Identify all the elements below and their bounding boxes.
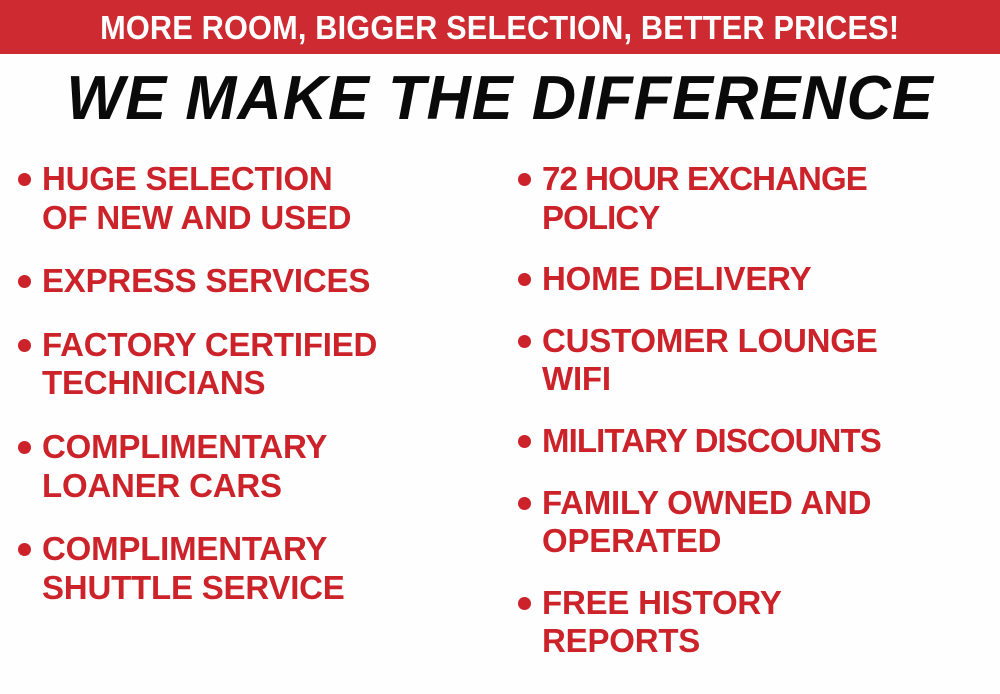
list-item: 72 HOUR EXCHANGE POLICY — [518, 160, 1000, 237]
feature-column-right: 72 HOUR EXCHANGE POLICY HOME DELIVERY CU… — [500, 152, 1000, 684]
bullet-icon — [518, 335, 531, 348]
list-item: COMPLIMENTARY SHUTTLE SERVICE — [18, 530, 500, 607]
feature-label: FREE HISTORY REPORTS — [542, 584, 782, 661]
list-item: HOME DELIVERY — [518, 260, 1000, 299]
bullet-icon — [18, 275, 31, 288]
bullet-icon — [518, 435, 531, 448]
header-tagline: MORE ROOM, BIGGER SELECTION, BETTER PRIC… — [100, 11, 899, 44]
feature-columns: HUGE SELECTION OF NEW AND USED EXPRESS S… — [0, 152, 1000, 694]
list-item: MILITARY DISCOUNTS — [518, 422, 1000, 461]
bullet-icon — [518, 173, 531, 186]
headline-container: WE MAKE THE DIFFERENCE — [0, 60, 1000, 138]
feature-label: EXPRESS SERVICES — [42, 262, 370, 301]
bullet-icon — [18, 173, 31, 186]
list-item: FACTORY CERTIFIED TECHNICIANS — [18, 326, 500, 403]
bullet-icon — [518, 273, 531, 286]
feature-column-left: HUGE SELECTION OF NEW AND USED EXPRESS S… — [0, 152, 500, 632]
page-title: WE MAKE THE DIFFERENCE — [66, 68, 933, 130]
feature-label: HOME DELIVERY — [542, 260, 811, 299]
list-item: HUGE SELECTION OF NEW AND USED — [18, 160, 500, 237]
promotional-banner: MORE ROOM, BIGGER SELECTION, BETTER PRIC… — [0, 0, 1000, 694]
list-item: EXPRESS SERVICES — [18, 262, 500, 301]
list-item: CUSTOMER LOUNGE WIFI — [518, 322, 1000, 399]
list-item: COMPLIMENTARY LOANER CARS — [18, 428, 500, 505]
list-item: FAMILY OWNED AND OPERATED — [518, 484, 1000, 561]
feature-label: HUGE SELECTION OF NEW AND USED — [42, 160, 351, 237]
bullet-icon — [18, 441, 31, 454]
feature-label: MILITARY DISCOUNTS — [542, 422, 881, 461]
feature-label: FAMILY OWNED AND OPERATED — [542, 484, 871, 561]
feature-label: COMPLIMENTARY LOANER CARS — [42, 428, 327, 505]
bullet-icon — [518, 497, 531, 510]
feature-label: FACTORY CERTIFIED TECHNICIANS — [42, 326, 377, 403]
list-item: FREE HISTORY REPORTS — [518, 584, 1000, 661]
bullet-icon — [18, 543, 31, 556]
bullet-icon — [18, 339, 31, 352]
bullet-icon — [518, 597, 531, 610]
feature-label: 72 HOUR EXCHANGE POLICY — [542, 160, 867, 237]
header-bar: MORE ROOM, BIGGER SELECTION, BETTER PRIC… — [0, 0, 1000, 54]
feature-label: COMPLIMENTARY SHUTTLE SERVICE — [42, 530, 345, 607]
feature-label: CUSTOMER LOUNGE WIFI — [542, 322, 878, 399]
